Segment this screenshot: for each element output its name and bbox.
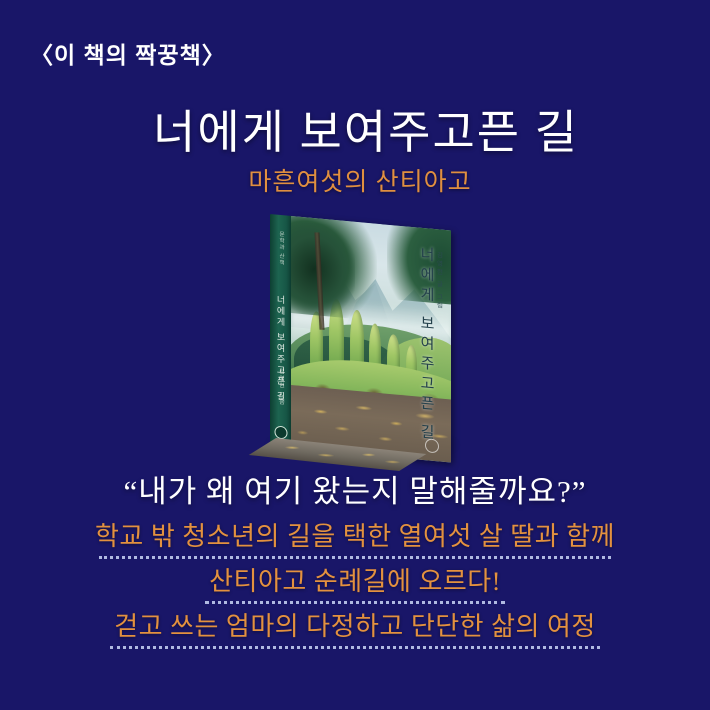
- pull-quote: “내가 왜 여기 왔는지 말해줄까요?”: [0, 466, 710, 511]
- page-title: 너에게 보여주고픈 길: [0, 96, 710, 162]
- book-spine: 문학과 산책 너에게 보여주고픈 길 김영현 지음: [270, 214, 292, 448]
- page-subtitle: 마흔여섯의 산티아고: [0, 162, 710, 198]
- spine-publisher-label: 문학과 산책: [277, 231, 285, 267]
- cover-publisher-logo-icon: [425, 438, 439, 453]
- book-front-cover: 김영현 글·그림 너에게 보여주고픈 길: [291, 216, 451, 463]
- tagline-line: 학교 밖 청소년의 길을 택한 열여섯 살 딸과 함께: [0, 524, 710, 561]
- spine-author-label: 김영현 지음: [277, 367, 286, 405]
- tagline-line: 걷고 쓰는 엄마의 다정하고 단단한 삶의 여정: [0, 614, 710, 651]
- tagline-line: 산티아고 순례길에 오르다!: [0, 569, 710, 606]
- book-cover-image: 문학과 산책 너에게 보여주고픈 길 김영현 지음: [262, 208, 462, 463]
- book-promo-banner: 〈이 책의 짝꿍책〉 너에게 보여주고픈 길 마흔여섯의 산티아고 문학과 산책…: [0, 0, 710, 710]
- tagline-block: 학교 밖 청소년의 길을 택한 열여섯 살 딸과 함께 산티아고 순례길에 오르…: [0, 524, 710, 659]
- kicker-label: 〈이 책의 짝꿍책〉: [30, 36, 226, 70]
- cover-title-label: 너에게 보여주고픈 길: [416, 245, 437, 444]
